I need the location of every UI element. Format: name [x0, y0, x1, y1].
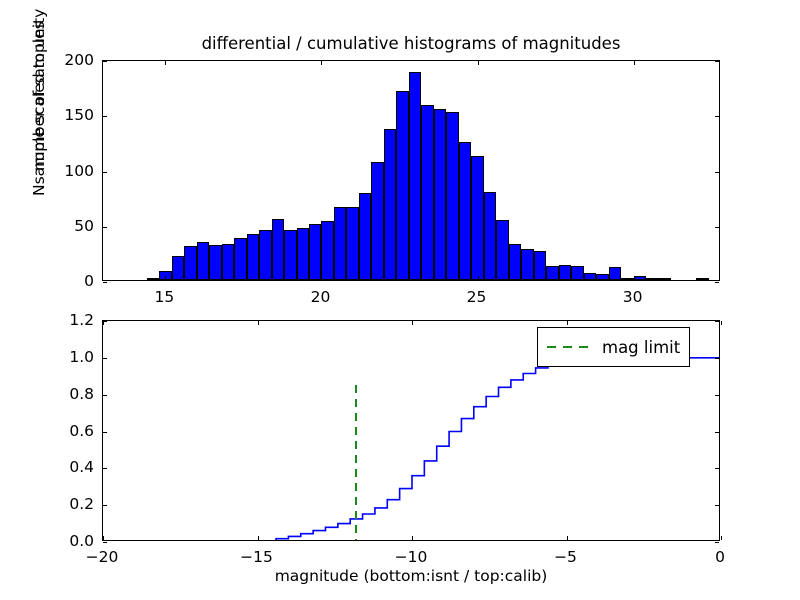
y-tick-mark [103, 172, 107, 173]
y-tick-mark-right [715, 542, 719, 543]
x-tick-mark-top [721, 321, 722, 325]
top-plot-area [103, 61, 719, 280]
histogram-bar [571, 266, 583, 280]
histogram-bar [584, 273, 596, 280]
x-tick-mark-top [567, 321, 568, 325]
y-tick-mark-right [715, 116, 719, 117]
legend-box[interactable]: mag limit [537, 327, 690, 367]
histogram-bar [209, 245, 221, 280]
top-axes-differential-histogram [102, 60, 720, 281]
x-tick-mark [567, 536, 568, 540]
y-tick-mark [103, 542, 107, 543]
x-tick-mark [412, 536, 413, 540]
legend-label-mag-limit: mag limit [602, 338, 680, 357]
x-tick-mark [721, 536, 722, 540]
histogram-bar [396, 91, 408, 280]
y-tick-label: 1.0 [44, 348, 94, 366]
histogram-bar [521, 249, 533, 280]
x-tick-mark [634, 276, 635, 280]
histogram-bar [297, 228, 309, 280]
x-tick-label: −15 [240, 548, 273, 566]
y-tick-mark-right [715, 61, 719, 62]
y-tick-label: 0.2 [44, 495, 94, 513]
histogram-bar [659, 278, 671, 280]
y-tick-label: 100 [44, 162, 94, 180]
histogram-bar [222, 244, 234, 280]
x-tick-label: 0 [715, 548, 725, 566]
x-tick-mark-top [165, 61, 166, 65]
y-tick-mark [103, 432, 107, 433]
y-tick-mark [103, 282, 107, 283]
histogram-bar [696, 278, 708, 280]
y-tick-mark-right [715, 282, 719, 283]
x-tick-mark-top [321, 61, 322, 65]
histogram-bar [384, 129, 396, 280]
x-tick-mark-top [478, 61, 479, 65]
y-tick-label: 0.6 [44, 422, 94, 440]
mag-limit-vline [355, 385, 357, 540]
y-tick-label: 50 [44, 217, 94, 235]
x-tick-mark [258, 536, 259, 540]
bottom-axis-label-y: Nsample scaled to unity [30, 9, 48, 196]
y-tick-mark-right [715, 505, 719, 506]
histogram-bar [421, 105, 433, 280]
histogram-bar [172, 256, 184, 280]
histogram-bar [371, 162, 383, 280]
x-tick-mark [478, 276, 479, 280]
y-tick-label: 0.8 [44, 385, 94, 403]
histogram-bar [259, 230, 271, 280]
y-tick-mark-right [715, 358, 719, 359]
y-tick-mark-right [715, 172, 719, 173]
histogram-bar [409, 72, 421, 280]
histogram-bar [434, 109, 446, 280]
histogram-bar [459, 142, 471, 280]
histogram-bar [471, 156, 483, 280]
x-tick-label: −5 [554, 548, 577, 566]
figure-title: differential / cumulative histograms of … [102, 34, 720, 53]
histogram-bar [359, 193, 371, 280]
x-tick-label: −20 [86, 548, 119, 566]
y-tick-mark-right [715, 395, 719, 396]
histogram-bar [147, 278, 159, 280]
x-tick-mark [321, 276, 322, 280]
y-tick-mark [103, 395, 107, 396]
y-tick-label: 0 [44, 272, 94, 290]
histogram-bar [346, 207, 358, 280]
x-tick-label: 20 [311, 288, 331, 306]
y-tick-mark [103, 468, 107, 469]
y-tick-mark-right [715, 321, 719, 322]
y-tick-mark [103, 505, 107, 506]
bottom-axis-label-x: magnitude (bottom:isnt / top:calib) [275, 567, 548, 585]
x-tick-label: 15 [155, 288, 175, 306]
histogram-bar [272, 219, 284, 280]
histogram-bar [446, 112, 458, 280]
histogram-bar [309, 224, 321, 280]
y-tick-label: 0.4 [44, 458, 94, 476]
histogram-bar [284, 230, 296, 280]
histogram-bar [247, 234, 259, 280]
x-tick-label: −10 [395, 548, 428, 566]
x-tick-label: 30 [623, 288, 643, 306]
y-tick-mark-right [715, 468, 719, 469]
histogram-bar [596, 274, 608, 280]
y-tick-label: 1.2 [44, 311, 94, 329]
figure-canvas: differential / cumulative histograms of … [0, 0, 800, 600]
y-tick-mark [103, 227, 107, 228]
x-tick-mark-top [412, 321, 413, 325]
x-tick-mark [103, 536, 104, 540]
histogram-bar [509, 244, 521, 280]
histogram-bar [646, 278, 658, 280]
y-tick-mark-right [715, 227, 719, 228]
histogram-bar [609, 267, 621, 280]
y-tick-mark [103, 321, 107, 322]
bottom-axes-cumulative-histogram: mag limit [102, 320, 720, 541]
histogram-bar [184, 246, 196, 280]
y-tick-mark [103, 358, 107, 359]
y-tick-label: 150 [44, 106, 94, 124]
cumulative-step-line [103, 358, 719, 540]
x-tick-mark [165, 276, 166, 280]
histogram-bar [559, 265, 571, 280]
x-tick-label: 25 [467, 288, 487, 306]
histogram-bar [496, 220, 508, 280]
y-tick-mark-right [715, 432, 719, 433]
legend-dashed-line-swatch [547, 340, 591, 354]
histogram-bar [321, 221, 333, 280]
histogram-bar [634, 276, 646, 280]
y-tick-label: 200 [44, 51, 94, 69]
y-tick-mark [103, 116, 107, 117]
x-tick-mark-top [258, 321, 259, 325]
histogram-bar [546, 266, 558, 280]
y-tick-mark [103, 61, 107, 62]
x-tick-mark-top [634, 61, 635, 65]
histogram-bar [484, 192, 496, 280]
histogram-bar [534, 251, 546, 280]
histogram-bar [334, 207, 346, 280]
histogram-bar [621, 278, 633, 280]
histogram-bar [197, 242, 209, 280]
dashed-line-icon [547, 346, 591, 348]
histogram-bar [234, 238, 246, 280]
